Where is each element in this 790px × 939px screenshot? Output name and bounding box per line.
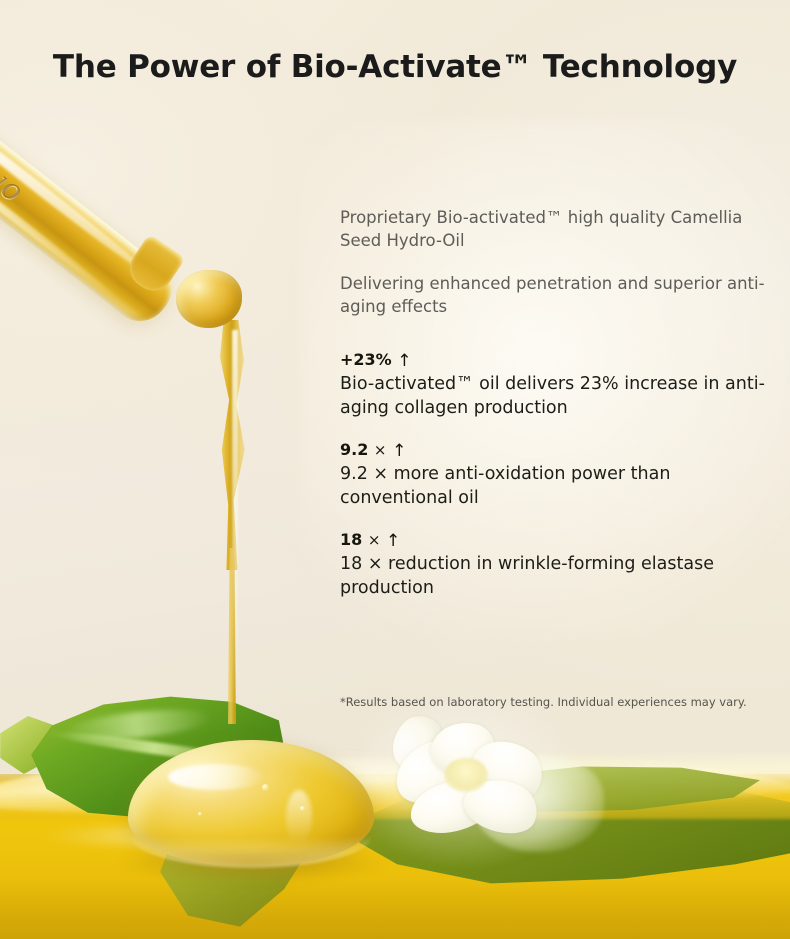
intro-paragraph-1: Proprietary Bio-activated™ high quality … xyxy=(340,206,770,252)
stat-headline: +23% ↑ xyxy=(340,349,770,371)
oil-droplet-shadow xyxy=(120,852,386,882)
promo-banner: Chiiyo The Power of Bio-Activate™ Techno… xyxy=(0,0,790,939)
stat-value: 9.2 xyxy=(340,440,368,459)
oil-bubble xyxy=(300,806,305,811)
flower-stamen xyxy=(444,758,488,792)
stat-headline: 18 × ↑ xyxy=(340,529,770,551)
arrow-up-icon: ↑ xyxy=(386,530,400,552)
dropper-tip-bulb xyxy=(176,270,242,328)
stat-multiplier: × xyxy=(368,531,381,549)
spacer xyxy=(340,338,770,349)
oil-droplet-highlight-side xyxy=(286,790,312,844)
stat-description: 9.2 × more anti-oxidation power than con… xyxy=(340,462,770,510)
arrow-up-icon: ↑ xyxy=(392,440,406,462)
stat-headline: 9.2 × ↑ xyxy=(340,439,770,461)
stat-value: 18 xyxy=(340,530,362,549)
stat-block-elastase: 18 × ↑ 18 × reduction in wrinkle-forming… xyxy=(340,529,770,600)
stat-description: 18 × reduction in wrinkle-forming elasta… xyxy=(340,552,770,600)
oil-bubble xyxy=(262,784,269,791)
stat-multiplier: × xyxy=(374,441,387,459)
oil-stream-highlight xyxy=(232,330,238,710)
oil-bubble xyxy=(198,812,202,816)
disclaimer-footnote: *Results based on laboratory testing. In… xyxy=(340,694,760,710)
stat-value: +23% xyxy=(340,350,392,369)
camellia-flower-icon xyxy=(388,718,556,850)
content-column: Proprietary Bio-activated™ high quality … xyxy=(340,206,770,619)
oil-pool-depth xyxy=(0,879,790,939)
intro-paragraph-2: Delivering enhanced penetration and supe… xyxy=(340,272,770,318)
stat-block-antioxidation: 9.2 × ↑ 9.2 × more anti-oxidation power … xyxy=(340,439,770,510)
arrow-up-icon: ↑ xyxy=(397,350,411,372)
oil-droplet-highlight xyxy=(168,764,264,790)
stat-block-collagen: +23% ↑ Bio-activated™ oil delivers 23% i… xyxy=(340,349,770,420)
page-title: The Power of Bio-Activate™ Technology xyxy=(0,46,790,88)
stat-description: Bio-activated™ oil delivers 23% increase… xyxy=(340,372,770,420)
